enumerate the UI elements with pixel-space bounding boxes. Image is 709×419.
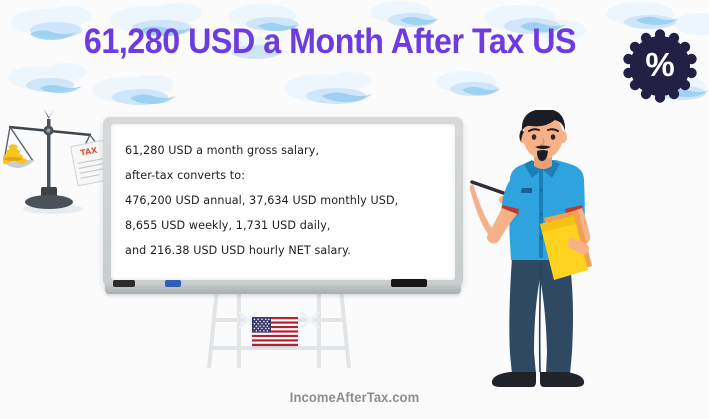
percent-badge: %: [622, 28, 698, 104]
whiteboard-line-1: 61,280 USD a month gross salary,: [125, 138, 435, 163]
eraser-icon: [113, 280, 135, 287]
whiteboard: 61,280 USD a month gross salary, after-t…: [103, 117, 463, 299]
whiteboard-line-3: 476,200 USD annual, 37,634 USD monthly U…: [125, 188, 435, 213]
blue-marker-icon: [165, 280, 181, 287]
page-title: 61,280 USD a Month After Tax US: [26, 22, 633, 62]
presenter-character: [470, 110, 660, 395]
whiteboard-line-2: after-tax converts to:: [125, 163, 435, 188]
left-shoe: [492, 372, 536, 387]
right-shoe: [540, 372, 584, 387]
whiteboard-line-5: and 216.38 USD USD hourly NET salary.: [125, 238, 435, 263]
poster-canvas: 61,280 USD a Month After Tax US: [0, 0, 709, 419]
percent-symbol: %: [622, 28, 698, 104]
black-marker-icon: [391, 279, 427, 287]
whiteboard-frame: 61,280 USD a month gross salary, after-t…: [103, 117, 463, 287]
whiteboard-line-4: 8,655 USD weekly, 1,731 USD daily,: [125, 213, 435, 238]
us-flag-icon: [252, 317, 298, 346]
balance-scales-icon: TAX: [3, 105, 115, 217]
whiteboard-surface: 61,280 USD a month gross salary, after-t…: [111, 124, 455, 280]
site-footer: IncomeAfterTax.com: [25, 389, 684, 405]
